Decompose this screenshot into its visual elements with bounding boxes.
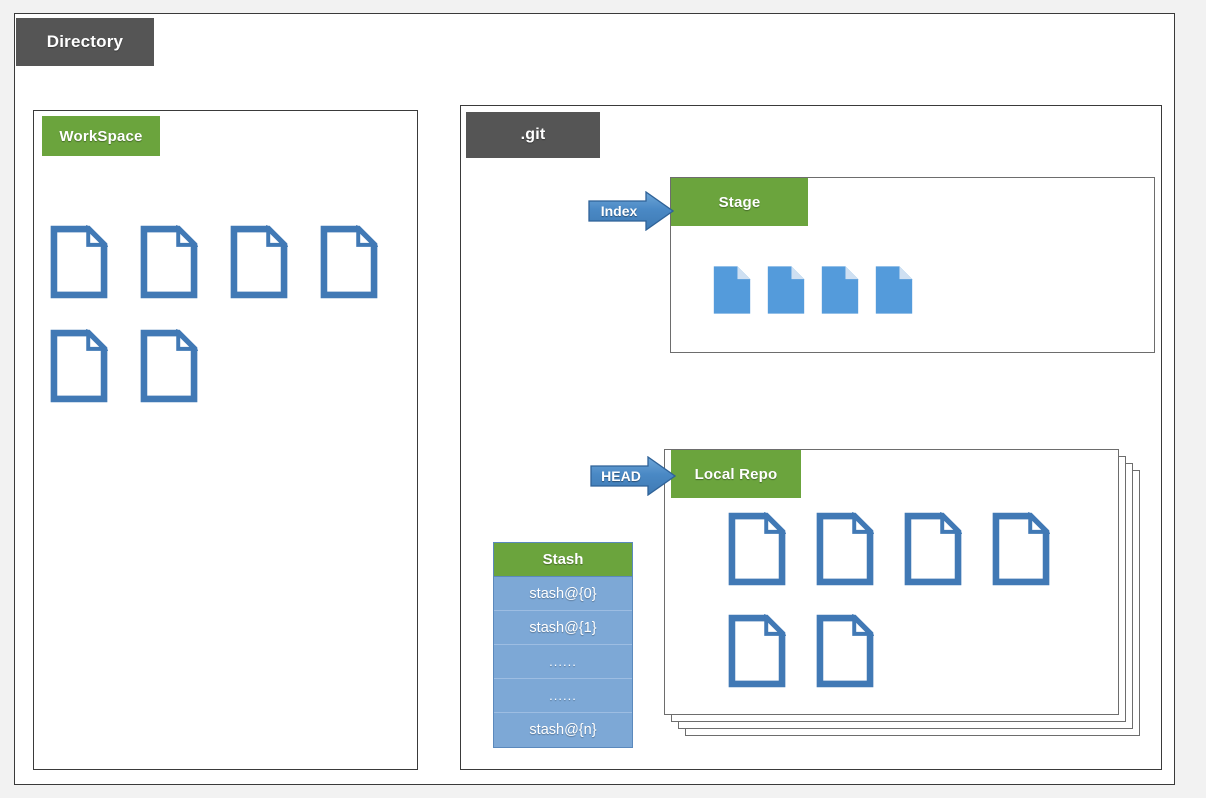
stash-row: ...... bbox=[494, 679, 632, 713]
git-label: .git bbox=[466, 112, 600, 158]
stash-table-header: Stash bbox=[494, 543, 632, 577]
stash-row: stash@{n} bbox=[494, 713, 632, 747]
file-outline-icon bbox=[728, 614, 786, 688]
stash-table: Stash stash@{0}stash@{1}............stas… bbox=[493, 542, 633, 748]
workspace-panel bbox=[33, 110, 418, 770]
workspace-files bbox=[50, 225, 410, 403]
file-outline-icon bbox=[50, 329, 108, 403]
arrow-right-icon bbox=[590, 456, 676, 496]
local-repo-files bbox=[728, 512, 1068, 688]
workspace-label: WorkSpace bbox=[42, 116, 160, 156]
file-outline-icon bbox=[816, 512, 874, 586]
file-outline-icon bbox=[728, 512, 786, 586]
file-outline-icon bbox=[904, 512, 962, 586]
file-outline-icon bbox=[50, 225, 108, 299]
file-solid-icon bbox=[712, 262, 752, 318]
stage-label: Stage bbox=[671, 178, 808, 226]
local-repo-label: Local Repo bbox=[671, 450, 801, 498]
file-solid-icon bbox=[766, 262, 806, 318]
arrow-right-icon bbox=[588, 191, 674, 231]
file-solid-icon bbox=[874, 262, 914, 318]
file-outline-icon bbox=[320, 225, 378, 299]
stash-row: stash@{1} bbox=[494, 611, 632, 645]
file-outline-icon bbox=[230, 225, 288, 299]
stage-files bbox=[712, 262, 942, 318]
directory-label: Directory bbox=[16, 18, 154, 66]
file-solid-icon bbox=[820, 262, 860, 318]
file-outline-icon bbox=[992, 512, 1050, 586]
stash-rows: stash@{0}stash@{1}............stash@{n} bbox=[494, 577, 632, 747]
stash-row: stash@{0} bbox=[494, 577, 632, 611]
head-arrow: HEAD bbox=[590, 456, 676, 496]
file-outline-icon bbox=[816, 614, 874, 688]
stash-row: ...... bbox=[494, 645, 632, 679]
index-arrow: Index bbox=[588, 191, 674, 231]
file-outline-icon bbox=[140, 329, 198, 403]
file-outline-icon bbox=[140, 225, 198, 299]
